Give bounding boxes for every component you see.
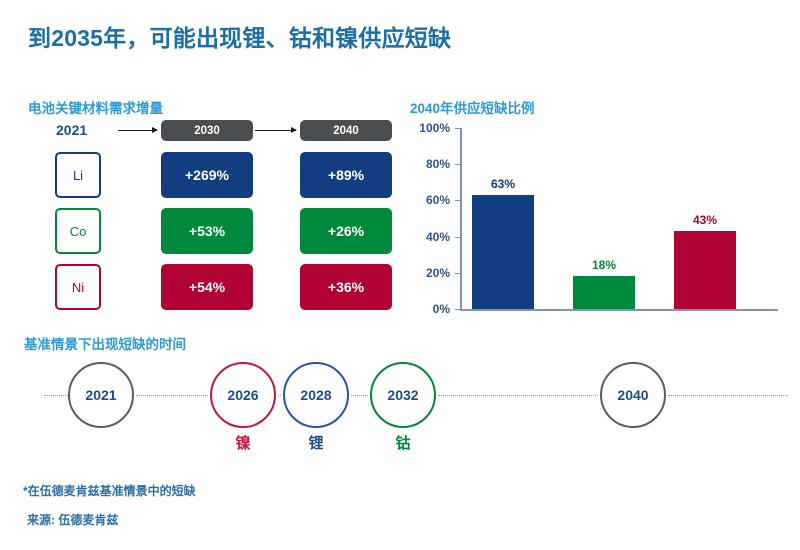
growth-cell-ni-2030: +54% xyxy=(161,264,253,310)
timeline-connector xyxy=(438,395,598,396)
timeline-node[interactable]: 2040 xyxy=(600,362,666,428)
chart-y-tick-mark xyxy=(455,273,460,274)
chart-y-tick-label: 40% xyxy=(406,230,450,244)
matrix-column-2040: 2040 xyxy=(300,120,392,141)
chart-y-tick-label: 0% xyxy=(406,302,450,316)
chart-x-axis xyxy=(460,309,778,311)
timeline-node[interactable]: 2026 xyxy=(210,362,276,428)
arrow-2021-to-2030-icon xyxy=(118,130,157,131)
chart-bar xyxy=(472,195,534,309)
element-chip-co: Co xyxy=(55,208,101,254)
timeline-connector xyxy=(44,395,68,396)
element-chip-li: Li xyxy=(55,152,101,198)
timeline-connector xyxy=(278,395,281,396)
timeline-node-caption: 锂 xyxy=(283,432,349,453)
matrix-section-heading: 电池关键材料需求增量 xyxy=(28,97,163,117)
matrix-column-2021: 2021 xyxy=(56,122,87,138)
chart-y-tick-label: 20% xyxy=(406,266,450,280)
timeline-node[interactable]: 2028 xyxy=(283,362,349,428)
chart-bar xyxy=(674,231,736,309)
chart-y-tick-label: 80% xyxy=(406,157,450,171)
growth-cell-ni-2040: +36% xyxy=(300,264,392,310)
chart-y-tick-label: 60% xyxy=(406,193,450,207)
footnote-note: *在伍德麦肯兹基准情景中的短缺 xyxy=(23,482,196,499)
timeline-node-caption: 钴 xyxy=(370,432,436,453)
chart-y-tick-label: 100% xyxy=(406,121,450,135)
timeline-connector xyxy=(351,395,368,396)
chart-bar-value-label: 18% xyxy=(573,258,635,272)
arrow-2030-to-2040-icon xyxy=(255,130,296,131)
chart-y-tick-mark xyxy=(455,200,460,201)
timeline-connector xyxy=(668,395,788,396)
shortage-timeline: 20212026镍2028锂2032钴2040 xyxy=(0,352,800,457)
growth-cell-co-2040: +26% xyxy=(300,208,392,254)
chart-y-axis xyxy=(460,128,462,310)
matrix-column-2030: 2030 xyxy=(161,120,253,141)
chart-bar-value-label: 43% xyxy=(674,213,736,227)
element-chip-ni: Ni xyxy=(55,264,101,310)
timeline-connector xyxy=(136,395,208,396)
growth-cell-li-2030: +269% xyxy=(161,152,253,198)
chart-bar xyxy=(573,276,635,309)
chart-y-tick-mark xyxy=(455,164,460,165)
timeline-section-heading: 基准情景下出现短缺的时间 xyxy=(24,333,186,353)
chart-y-tick-mark xyxy=(455,237,460,238)
supply-gap-bar-chart: 100%80%60%40%20%0% 63%18%43% xyxy=(410,120,780,320)
chart-y-tick-mark xyxy=(455,309,460,310)
page-title: 到2035年，可能出现锂、钴和镍供应短缺 xyxy=(28,19,451,53)
growth-cell-li-2040: +89% xyxy=(300,152,392,198)
timeline-node[interactable]: 2021 xyxy=(68,362,134,428)
footnote-source: 来源: 伍德麦肯兹 xyxy=(27,511,118,528)
timeline-node[interactable]: 2032 xyxy=(370,362,436,428)
chart-bar-value-label: 63% xyxy=(472,177,534,191)
chart-section-heading: 2040年供应短缺比例 xyxy=(410,97,535,117)
timeline-node-caption: 镍 xyxy=(210,432,276,453)
chart-y-tick-mark xyxy=(455,128,460,129)
growth-cell-co-2030: +53% xyxy=(161,208,253,254)
